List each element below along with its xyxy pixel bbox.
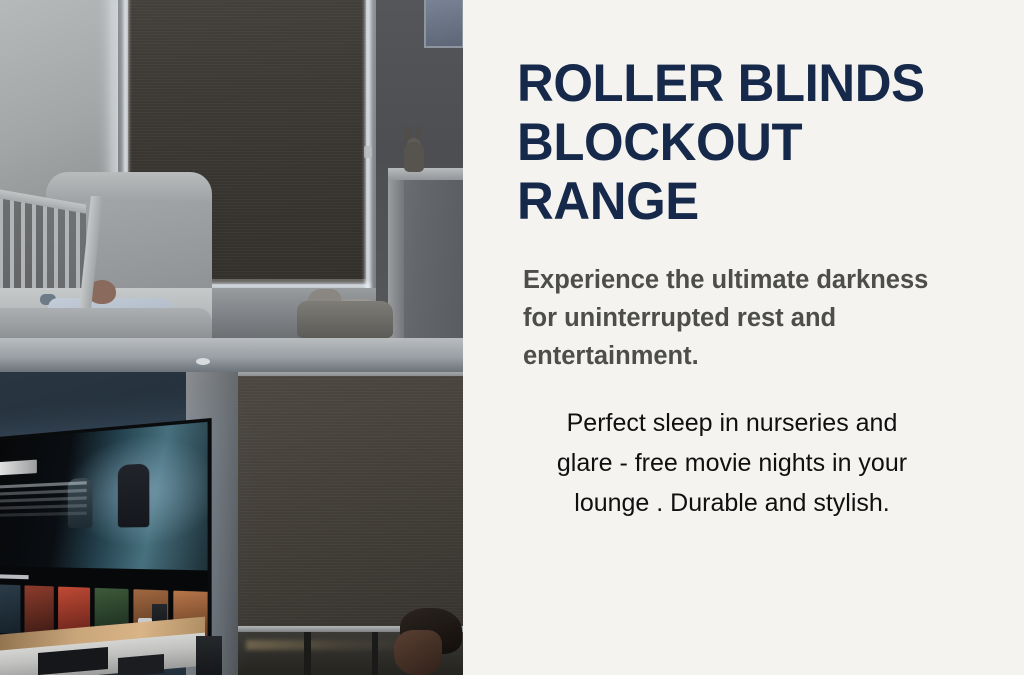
lounge-blockout-blind <box>238 376 463 629</box>
glass-mullion <box>372 632 378 675</box>
basket-body <box>297 301 393 338</box>
tv-hero-character <box>118 464 149 528</box>
person-face <box>394 630 442 675</box>
headline-line-1: ROLLER BLINDS <box>517 54 965 113</box>
tv-hero-banner <box>0 422 208 570</box>
glass-mullion <box>304 632 311 675</box>
body-line-2: glare - free movie nights in your <box>517 443 947 483</box>
headline-line-2: BLOCKOUT <box>517 113 965 172</box>
tv-hero-character <box>68 478 93 528</box>
floor-speaker <box>196 636 222 675</box>
image-column <box>0 0 463 675</box>
body-line-3: lounge . Durable and stylish. <box>517 483 947 523</box>
media-console <box>0 626 205 675</box>
subheading: Experience the ultimate darkness for uni… <box>523 261 943 375</box>
body-line-1: Perfect sleep in nurseries and <box>517 403 947 443</box>
content-panel: ROLLER BLINDS BLOCKOUT RANGE Experience … <box>463 0 1024 675</box>
lounge-ceiling <box>0 338 463 372</box>
wall-art-frame <box>424 0 463 48</box>
tv-show-logo <box>0 460 37 476</box>
person-watching-tv <box>392 608 463 675</box>
tv-row-label <box>0 574 29 579</box>
body-copy: Perfect sleep in nurseries and glare - f… <box>517 403 947 523</box>
blind-side-bracket <box>364 146 372 158</box>
console-open-shelf <box>118 654 164 675</box>
toy-basket <box>297 283 393 338</box>
headline-line-3: RANGE <box>517 172 965 231</box>
crib-front-rail <box>0 308 212 338</box>
baby-crib <box>0 172 226 338</box>
crib-headboard <box>46 172 212 202</box>
bunny-body <box>404 142 424 172</box>
bunny-plush-toy <box>400 126 428 172</box>
nursery-photo <box>0 0 463 338</box>
ceiling-downlight <box>196 358 210 365</box>
page-title: ROLLER BLINDS BLOCKOUT RANGE <box>517 54 965 231</box>
promo-banner: ROLLER BLINDS BLOCKOUT RANGE Experience … <box>0 0 1024 675</box>
